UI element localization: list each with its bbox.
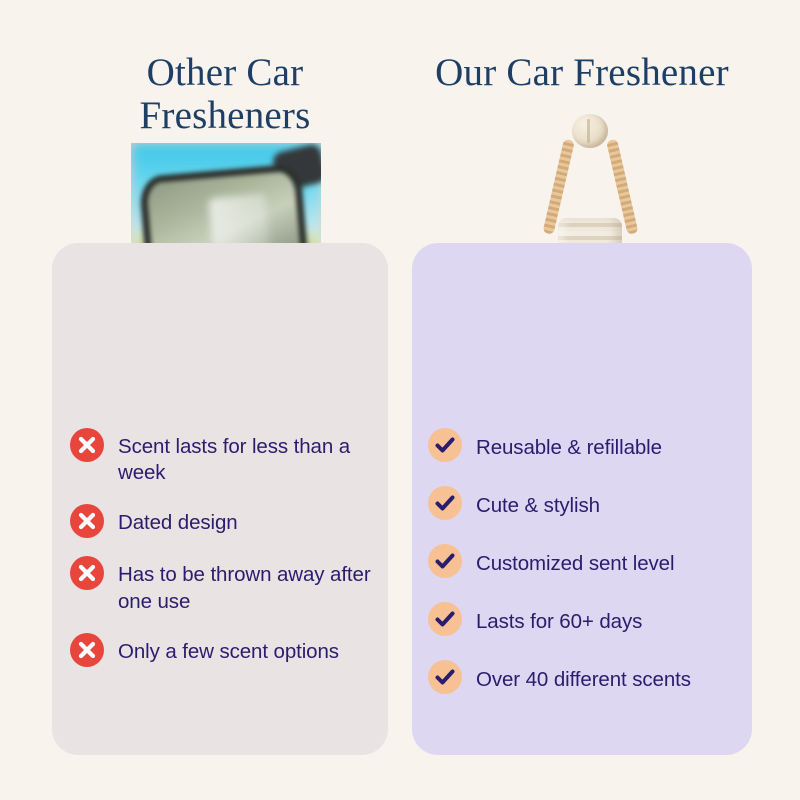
list-item: Has to be thrown away after one use [70,558,378,614]
check-circle-icon [428,544,462,578]
list-item: Cute & stylish [428,488,738,520]
check-circle-icon [428,428,462,462]
cons-list: Scent lasts for less than a week Dated d… [70,430,378,687]
list-item: Scent lasts for less than a week [70,430,378,486]
list-item: Only a few scent options [70,635,378,667]
x-circle-icon [70,504,104,538]
list-item-label: Customized sent level [476,546,674,577]
check-circle-icon [428,486,462,520]
check-circle-icon [428,660,462,694]
x-circle-icon [70,556,104,590]
page-title-ours: Our Car Freshener [412,52,752,95]
list-item-label: Cute & stylish [476,488,600,519]
check-circle-icon [428,602,462,636]
list-item: Customized sent level [428,546,738,578]
pros-list: Reusable & refillable Cute & stylish Cus… [428,430,738,720]
x-circle-icon [70,633,104,667]
list-item: Dated design [70,506,378,538]
list-item: Over 40 different scents [428,662,738,694]
bead-seam [587,119,590,143]
page-title-other: Other Car Fresheners [60,52,390,138]
list-item: Lasts for 60+ days [428,604,738,636]
list-item-label: Lasts for 60+ days [476,604,642,635]
list-item: Reusable & refillable [428,430,738,462]
wooden-bead-icon [572,114,608,148]
list-item-label: Only a few scent options [118,635,339,665]
list-item-label: Scent lasts for less than a week [118,430,378,486]
list-item-label: Over 40 different scents [476,662,691,693]
list-item-label: Reusable & refillable [476,430,662,461]
x-circle-icon [70,428,104,462]
comparison-infographic: Other Car Fresheners Our Car Freshener O… [0,0,800,800]
list-item-label: Dated design [118,506,238,536]
list-item-label: Has to be thrown away after one use [118,558,378,614]
